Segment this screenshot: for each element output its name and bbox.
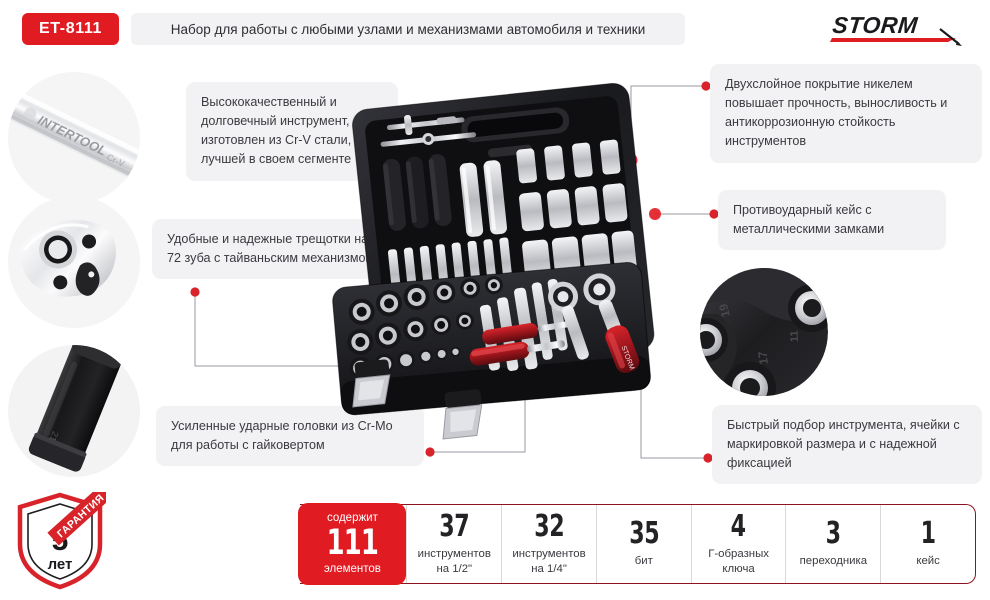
spec-item: 4 Г-образныхключа — [691, 505, 786, 583]
photo-ratchet-head — [8, 196, 140, 328]
spec-item-number: 1 — [921, 519, 936, 549]
spec-item: 1 кейс — [880, 505, 975, 583]
spec-item-number: 32 — [534, 512, 564, 542]
guarantee-badge: 5 лет ГАРАНТИЯ — [14, 492, 106, 590]
callout-case: Противоударный кейс с металлическими зам… — [718, 190, 946, 250]
spec-item-label: инструментовна 1/2" — [418, 547, 491, 576]
svg-text:STORM: STORM — [831, 12, 919, 38]
spec-bar: содержит 111 элементов 37 инструментовна… — [300, 504, 976, 584]
spec-item-label: переходника — [800, 554, 867, 568]
spec-item-number: 3 — [826, 519, 841, 549]
photo-impact-socket: 21 — [8, 345, 140, 477]
spec-item: 3 переходника — [785, 505, 880, 583]
spec-item-number: 4 — [731, 512, 746, 542]
sku-badge: ET-8111 — [22, 13, 119, 45]
brand-logo: STORM — [828, 12, 968, 46]
spec-item: 32 инструментовна 1/4" — [501, 505, 596, 583]
spec-item-label: бит — [635, 554, 653, 568]
svg-text:17: 17 — [755, 350, 771, 365]
spec-item-label: кейс — [916, 554, 940, 568]
spec-item-label: Г-образныхключа — [708, 547, 769, 576]
photo-extension-bar: INTERTOOL Cr-V — [8, 72, 140, 204]
callout-nickel-coating: Двухслойное покрытие никелем повышает пр… — [710, 64, 982, 163]
callout-cells: Быстрый подбор инструмента, ячейки с мар… — [712, 405, 982, 484]
spec-item: 37 инструментовна 1/2" — [406, 505, 501, 583]
spec-total: содержит 111 элементов — [298, 503, 406, 584]
svg-text:11: 11 — [789, 330, 801, 342]
infographic-page: ET-8111 Набор для работы с любыми узлами… — [0, 0, 990, 600]
spec-item-number: 35 — [629, 519, 659, 549]
guarantee-unit: лет — [48, 556, 73, 573]
spec-item-label: инструментовна 1/4" — [512, 547, 585, 576]
header: ET-8111 Набор для работы с любыми узлами… — [0, 0, 990, 58]
spec-item-number: 37 — [439, 512, 469, 542]
product-image-tool-case: STORM — [320, 78, 680, 478]
spec-item: 35 бит — [596, 505, 691, 583]
spec-total-number: 111 — [327, 526, 378, 561]
photo-case-cells: 19 17 11 — [700, 268, 828, 396]
spec-total-bottom: элементов — [324, 563, 381, 576]
page-title: Набор для работы с любыми узлами и механ… — [131, 13, 685, 45]
